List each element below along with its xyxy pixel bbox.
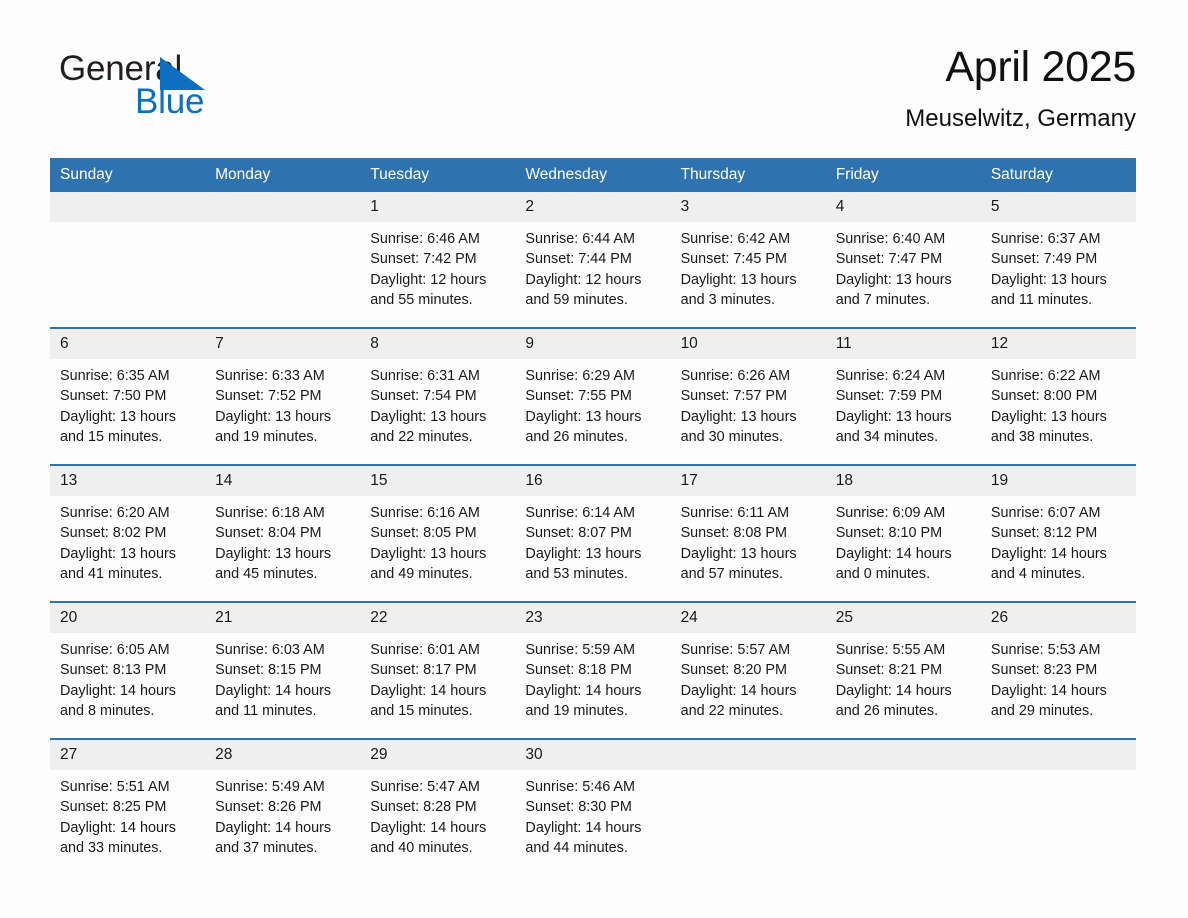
daylight-text: Daylight: 14 hours <box>60 818 197 838</box>
sunrise-text: Sunrise: 5:53 AM <box>991 640 1128 660</box>
sunset-text: Sunset: 8:30 PM <box>525 797 662 817</box>
daylight-text: Daylight: 13 hours <box>60 407 197 427</box>
day-number[interactable]: 25 <box>826 603 981 633</box>
daylight-text-cont: and 34 minutes. <box>836 427 973 447</box>
daylight-text: Daylight: 14 hours <box>370 818 507 838</box>
daylight-text: Daylight: 12 hours <box>525 270 662 290</box>
day-cell[interactable]: Sunrise: 6:37 AMSunset: 7:49 PMDaylight:… <box>981 222 1136 327</box>
sunrise-text: Sunrise: 6:05 AM <box>60 640 197 660</box>
day-number[interactable]: 26 <box>981 603 1136 633</box>
daylight-text: Daylight: 13 hours <box>215 407 352 427</box>
day-number-empty <box>826 740 981 770</box>
calendar-grid: SundayMondayTuesdayWednesdayThursdayFrid… <box>50 158 1136 875</box>
daylight-text-cont: and 44 minutes. <box>525 838 662 858</box>
daylight-text: Daylight: 13 hours <box>370 544 507 564</box>
sunset-text: Sunset: 8:07 PM <box>525 523 662 543</box>
daylight-text-cont: and 19 minutes. <box>525 701 662 721</box>
daylight-text-cont: and 11 minutes. <box>215 701 352 721</box>
day-number[interactable]: 18 <box>826 466 981 496</box>
day-number[interactable]: 12 <box>981 329 1136 359</box>
sunset-text: Sunset: 8:12 PM <box>991 523 1128 543</box>
sunrise-text: Sunrise: 6:09 AM <box>836 503 973 523</box>
sunrise-text: Sunrise: 6:18 AM <box>215 503 352 523</box>
weekday-header-thursday: Thursday <box>671 158 826 192</box>
daylight-text-cont: and 19 minutes. <box>215 427 352 447</box>
sunrise-text: Sunrise: 6:44 AM <box>525 229 662 249</box>
sunset-text: Sunset: 8:02 PM <box>60 523 197 543</box>
day-number[interactable]: 7 <box>205 329 360 359</box>
daylight-text-cont: and 15 minutes. <box>370 701 507 721</box>
day-cell[interactable]: Sunrise: 5:59 AMSunset: 8:18 PMDaylight:… <box>515 633 670 738</box>
daylight-text-cont: and 40 minutes. <box>370 838 507 858</box>
day-number[interactable]: 30 <box>515 740 670 770</box>
day-cell[interactable]: Sunrise: 6:44 AMSunset: 7:44 PMDaylight:… <box>515 222 670 327</box>
day-number[interactable]: 28 <box>205 740 360 770</box>
daylight-text-cont: and 45 minutes. <box>215 564 352 584</box>
daylight-text-cont: and 4 minutes. <box>991 564 1128 584</box>
daylight-text-cont: and 0 minutes. <box>836 564 973 584</box>
week-daynumber-band: 13141516171819 <box>50 466 1136 496</box>
week-daynumber-band: 6789101112 <box>50 329 1136 359</box>
sunrise-text: Sunrise: 5:59 AM <box>525 640 662 660</box>
day-cell[interactable]: Sunrise: 6:26 AMSunset: 7:57 PMDaylight:… <box>671 359 826 464</box>
daylight-text: Daylight: 13 hours <box>525 407 662 427</box>
day-cell[interactable]: Sunrise: 6:16 AMSunset: 8:05 PMDaylight:… <box>360 496 515 601</box>
title-block: April 2025 Meuselwitz, Germany <box>905 42 1136 133</box>
daylight-text-cont: and 33 minutes. <box>60 838 197 858</box>
day-cell[interactable]: Sunrise: 5:57 AMSunset: 8:20 PMDaylight:… <box>671 633 826 738</box>
sunset-text: Sunset: 7:45 PM <box>681 249 818 269</box>
day-number-empty <box>50 192 205 222</box>
daylight-text-cont: and 59 minutes. <box>525 290 662 310</box>
daylight-text: Daylight: 13 hours <box>215 544 352 564</box>
daylight-text-cont: and 26 minutes. <box>525 427 662 447</box>
week-detail-band: Sunrise: 6:46 AMSunset: 7:42 PMDaylight:… <box>50 222 1136 327</box>
day-cell[interactable]: Sunrise: 6:31 AMSunset: 7:54 PMDaylight:… <box>360 359 515 464</box>
daylight-text: Daylight: 13 hours <box>836 270 973 290</box>
general-blue-logo[interactable]: General Blue <box>59 50 299 140</box>
sunset-text: Sunset: 8:23 PM <box>991 660 1128 680</box>
sunset-text: Sunset: 8:21 PM <box>836 660 973 680</box>
day-number[interactable]: 1 <box>360 192 515 222</box>
daylight-text: Daylight: 14 hours <box>60 681 197 701</box>
week-daynumber-band: 20212223242526 <box>50 603 1136 633</box>
daylight-text: Daylight: 14 hours <box>525 818 662 838</box>
daylight-text-cont: and 3 minutes. <box>681 290 818 310</box>
sunset-text: Sunset: 7:44 PM <box>525 249 662 269</box>
week-daynumber-band: 12345 <box>50 192 1136 222</box>
day-number[interactable]: 11 <box>826 329 981 359</box>
daylight-text: Daylight: 14 hours <box>215 818 352 838</box>
daylight-text: Daylight: 14 hours <box>370 681 507 701</box>
sunset-text: Sunset: 8:15 PM <box>215 660 352 680</box>
sunset-text: Sunset: 8:20 PM <box>681 660 818 680</box>
daylight-text-cont: and 22 minutes. <box>370 427 507 447</box>
daylight-text: Daylight: 14 hours <box>681 681 818 701</box>
day-cell[interactable]: Sunrise: 5:49 AMSunset: 8:26 PMDaylight:… <box>205 770 360 875</box>
daylight-text-cont: and 55 minutes. <box>370 290 507 310</box>
page-title: April 2025 <box>905 42 1136 92</box>
sunset-text: Sunset: 7:50 PM <box>60 386 197 406</box>
day-number[interactable]: 6 <box>50 329 205 359</box>
sunrise-text: Sunrise: 5:49 AM <box>215 777 352 797</box>
daylight-text: Daylight: 13 hours <box>60 544 197 564</box>
day-number[interactable]: 5 <box>981 192 1136 222</box>
day-number[interactable]: 27 <box>50 740 205 770</box>
weekday-header-monday: Monday <box>205 158 360 192</box>
day-number[interactable]: 14 <box>205 466 360 496</box>
daylight-text: Daylight: 13 hours <box>681 544 818 564</box>
daylight-text-cont: and 53 minutes. <box>525 564 662 584</box>
sunrise-text: Sunrise: 5:57 AM <box>681 640 818 660</box>
day-cell[interactable]: Sunrise: 6:29 AMSunset: 7:55 PMDaylight:… <box>515 359 670 464</box>
day-cell-empty <box>671 770 826 875</box>
sunset-text: Sunset: 7:52 PM <box>215 386 352 406</box>
week-detail-band: Sunrise: 5:51 AMSunset: 8:25 PMDaylight:… <box>50 770 1136 875</box>
day-number-empty <box>671 740 826 770</box>
day-number[interactable]: 9 <box>515 329 670 359</box>
day-number[interactable]: 4 <box>826 192 981 222</box>
day-number[interactable]: 13 <box>50 466 205 496</box>
day-cell-empty <box>826 770 981 875</box>
day-cell[interactable]: Sunrise: 5:55 AMSunset: 8:21 PMDaylight:… <box>826 633 981 738</box>
sunset-text: Sunset: 8:25 PM <box>60 797 197 817</box>
weekday-header-friday: Friday <box>826 158 981 192</box>
day-cell[interactable]: Sunrise: 6:22 AMSunset: 8:00 PMDaylight:… <box>981 359 1136 464</box>
calendar-week-row: 20212223242526Sunrise: 6:05 AMSunset: 8:… <box>50 601 1136 738</box>
sunrise-text: Sunrise: 6:35 AM <box>60 366 197 386</box>
day-cell-empty <box>50 222 205 327</box>
sunrise-text: Sunrise: 6:03 AM <box>215 640 352 660</box>
daylight-text: Daylight: 14 hours <box>836 544 973 564</box>
day-number-empty <box>205 192 360 222</box>
day-cell[interactable]: Sunrise: 5:47 AMSunset: 8:28 PMDaylight:… <box>360 770 515 875</box>
triangle-flag-icon <box>160 57 205 90</box>
sunset-text: Sunset: 8:10 PM <box>836 523 973 543</box>
day-cell[interactable]: Sunrise: 5:53 AMSunset: 8:23 PMDaylight:… <box>981 633 1136 738</box>
sunrise-text: Sunrise: 6:29 AM <box>525 366 662 386</box>
sunset-text: Sunset: 8:05 PM <box>370 523 507 543</box>
daylight-text: Daylight: 13 hours <box>681 407 818 427</box>
sunrise-text: Sunrise: 6:11 AM <box>681 503 818 523</box>
sunrise-text: Sunrise: 6:01 AM <box>370 640 507 660</box>
daylight-text-cont: and 41 minutes. <box>60 564 197 584</box>
day-cell[interactable]: Sunrise: 6:07 AMSunset: 8:12 PMDaylight:… <box>981 496 1136 601</box>
sunrise-text: Sunrise: 6:40 AM <box>836 229 973 249</box>
sunrise-text: Sunrise: 6:16 AM <box>370 503 507 523</box>
weekday-header-saturday: Saturday <box>981 158 1136 192</box>
day-cell[interactable]: Sunrise: 6:11 AMSunset: 8:08 PMDaylight:… <box>671 496 826 601</box>
day-number[interactable]: 16 <box>515 466 670 496</box>
day-number[interactable]: 10 <box>671 329 826 359</box>
sunrise-text: Sunrise: 6:24 AM <box>836 366 973 386</box>
calendar-weeks: 12345Sunrise: 6:46 AMSunset: 7:42 PMDayl… <box>50 192 1136 875</box>
day-cell[interactable]: Sunrise: 6:33 AMSunset: 7:52 PMDaylight:… <box>205 359 360 464</box>
sunset-text: Sunset: 7:57 PM <box>681 386 818 406</box>
day-number[interactable]: 24 <box>671 603 826 633</box>
sunset-text: Sunset: 8:13 PM <box>60 660 197 680</box>
daylight-text-cont: and 29 minutes. <box>991 701 1128 721</box>
daylight-text: Daylight: 14 hours <box>525 681 662 701</box>
day-cell[interactable]: Sunrise: 6:05 AMSunset: 8:13 PMDaylight:… <box>50 633 205 738</box>
day-number[interactable]: 21 <box>205 603 360 633</box>
day-cell[interactable]: Sunrise: 6:24 AMSunset: 7:59 PMDaylight:… <box>826 359 981 464</box>
sunrise-text: Sunrise: 6:33 AM <box>215 366 352 386</box>
sunrise-text: Sunrise: 6:07 AM <box>991 503 1128 523</box>
day-cell-empty <box>981 770 1136 875</box>
sunrise-text: Sunrise: 6:14 AM <box>525 503 662 523</box>
sunrise-text: Sunrise: 6:42 AM <box>681 229 818 249</box>
day-cell[interactable]: Sunrise: 6:03 AMSunset: 8:15 PMDaylight:… <box>205 633 360 738</box>
sunset-text: Sunset: 7:42 PM <box>370 249 507 269</box>
sunset-text: Sunset: 8:00 PM <box>991 386 1128 406</box>
daylight-text: Daylight: 13 hours <box>991 407 1128 427</box>
daylight-text-cont: and 8 minutes. <box>60 701 197 721</box>
daylight-text-cont: and 11 minutes. <box>991 290 1128 310</box>
sunrise-text: Sunrise: 6:26 AM <box>681 366 818 386</box>
sunrise-text: Sunrise: 6:46 AM <box>370 229 507 249</box>
calendar-week-row: 27282930Sunrise: 5:51 AMSunset: 8:25 PMD… <box>50 738 1136 875</box>
day-cell[interactable]: Sunrise: 6:35 AMSunset: 7:50 PMDaylight:… <box>50 359 205 464</box>
week-detail-band: Sunrise: 6:20 AMSunset: 8:02 PMDaylight:… <box>50 496 1136 601</box>
day-number[interactable]: 15 <box>360 466 515 496</box>
daylight-text: Daylight: 14 hours <box>991 544 1128 564</box>
sunset-text: Sunset: 8:26 PM <box>215 797 352 817</box>
sunrise-text: Sunrise: 6:20 AM <box>60 503 197 523</box>
daylight-text-cont: and 49 minutes. <box>370 564 507 584</box>
day-number[interactable]: 3 <box>671 192 826 222</box>
day-cell[interactable]: Sunrise: 6:09 AMSunset: 8:10 PMDaylight:… <box>826 496 981 601</box>
day-cell[interactable]: Sunrise: 6:46 AMSunset: 7:42 PMDaylight:… <box>360 222 515 327</box>
sunset-text: Sunset: 7:55 PM <box>525 386 662 406</box>
daylight-text-cont: and 30 minutes. <box>681 427 818 447</box>
calendar-week-row: 12345Sunrise: 6:46 AMSunset: 7:42 PMDayl… <box>50 192 1136 327</box>
day-cell[interactable]: Sunrise: 6:18 AMSunset: 8:04 PMDaylight:… <box>205 496 360 601</box>
daylight-text: Daylight: 14 hours <box>836 681 973 701</box>
daylight-text: Daylight: 12 hours <box>370 270 507 290</box>
day-number[interactable]: 17 <box>671 466 826 496</box>
week-detail-band: Sunrise: 6:05 AMSunset: 8:13 PMDaylight:… <box>50 633 1136 738</box>
daylight-text-cont: and 26 minutes. <box>836 701 973 721</box>
sunset-text: Sunset: 8:17 PM <box>370 660 507 680</box>
week-detail-band: Sunrise: 6:35 AMSunset: 7:50 PMDaylight:… <box>50 359 1136 464</box>
daylight-text-cont: and 57 minutes. <box>681 564 818 584</box>
day-cell[interactable]: Sunrise: 5:51 AMSunset: 8:25 PMDaylight:… <box>50 770 205 875</box>
daylight-text-cont: and 38 minutes. <box>991 427 1128 447</box>
sunrise-text: Sunrise: 5:55 AM <box>836 640 973 660</box>
sunset-text: Sunset: 7:59 PM <box>836 386 973 406</box>
sunset-text: Sunset: 7:49 PM <box>991 249 1128 269</box>
daylight-text-cont: and 37 minutes. <box>215 838 352 858</box>
day-number[interactable]: 22 <box>360 603 515 633</box>
day-cell[interactable]: Sunrise: 6:20 AMSunset: 8:02 PMDaylight:… <box>50 496 205 601</box>
day-number[interactable]: 8 <box>360 329 515 359</box>
day-number[interactable]: 20 <box>50 603 205 633</box>
sunrise-text: Sunrise: 5:51 AM <box>60 777 197 797</box>
day-number[interactable]: 19 <box>981 466 1136 496</box>
day-number[interactable]: 29 <box>360 740 515 770</box>
week-daynumber-band: 27282930 <box>50 740 1136 770</box>
weekday-header-row: SundayMondayTuesdayWednesdayThursdayFrid… <box>50 158 1136 192</box>
daylight-text: Daylight: 13 hours <box>681 270 818 290</box>
sunrise-text: Sunrise: 6:37 AM <box>991 229 1128 249</box>
sunrise-text: Sunrise: 6:31 AM <box>370 366 507 386</box>
daylight-text-cont: and 15 minutes. <box>60 427 197 447</box>
day-cell[interactable]: Sunrise: 6:40 AMSunset: 7:47 PMDaylight:… <box>826 222 981 327</box>
daylight-text: Daylight: 14 hours <box>215 681 352 701</box>
page-subtitle-location: Meuselwitz, Germany <box>905 105 1136 133</box>
calendar-page: General Blue April 2025 Meuselwitz, Germ… <box>0 0 1188 918</box>
day-cell[interactable]: Sunrise: 6:01 AMSunset: 8:17 PMDaylight:… <box>360 633 515 738</box>
day-cell[interactable]: Sunrise: 6:14 AMSunset: 8:07 PMDaylight:… <box>515 496 670 601</box>
calendar-week-row: 6789101112Sunrise: 6:35 AMSunset: 7:50 P… <box>50 327 1136 464</box>
daylight-text: Daylight: 14 hours <box>991 681 1128 701</box>
sunrise-text: Sunrise: 5:46 AM <box>525 777 662 797</box>
masthead: General Blue April 2025 Meuselwitz, Germ… <box>50 42 1136 148</box>
daylight-text: Daylight: 13 hours <box>525 544 662 564</box>
weekday-header-tuesday: Tuesday <box>360 158 515 192</box>
daylight-text: Daylight: 13 hours <box>370 407 507 427</box>
sunset-text: Sunset: 7:47 PM <box>836 249 973 269</box>
day-cell-empty <box>205 222 360 327</box>
sunset-text: Sunset: 8:08 PM <box>681 523 818 543</box>
day-cell[interactable]: Sunrise: 6:42 AMSunset: 7:45 PMDaylight:… <box>671 222 826 327</box>
daylight-text-cont: and 22 minutes. <box>681 701 818 721</box>
sunrise-text: Sunrise: 5:47 AM <box>370 777 507 797</box>
day-number-empty <box>981 740 1136 770</box>
daylight-text: Daylight: 13 hours <box>991 270 1128 290</box>
calendar-week-row: 13141516171819Sunrise: 6:20 AMSunset: 8:… <box>50 464 1136 601</box>
weekday-header-sunday: Sunday <box>50 158 205 192</box>
sunrise-text: Sunrise: 6:22 AM <box>991 366 1128 386</box>
sunset-text: Sunset: 8:04 PM <box>215 523 352 543</box>
daylight-text: Daylight: 13 hours <box>836 407 973 427</box>
day-number[interactable]: 2 <box>515 192 670 222</box>
sunset-text: Sunset: 8:28 PM <box>370 797 507 817</box>
day-number[interactable]: 23 <box>515 603 670 633</box>
sunset-text: Sunset: 8:18 PM <box>525 660 662 680</box>
day-cell[interactable]: Sunrise: 5:46 AMSunset: 8:30 PMDaylight:… <box>515 770 670 875</box>
daylight-text-cont: and 7 minutes. <box>836 290 973 310</box>
weekday-header-wednesday: Wednesday <box>515 158 670 192</box>
sunset-text: Sunset: 7:54 PM <box>370 386 507 406</box>
